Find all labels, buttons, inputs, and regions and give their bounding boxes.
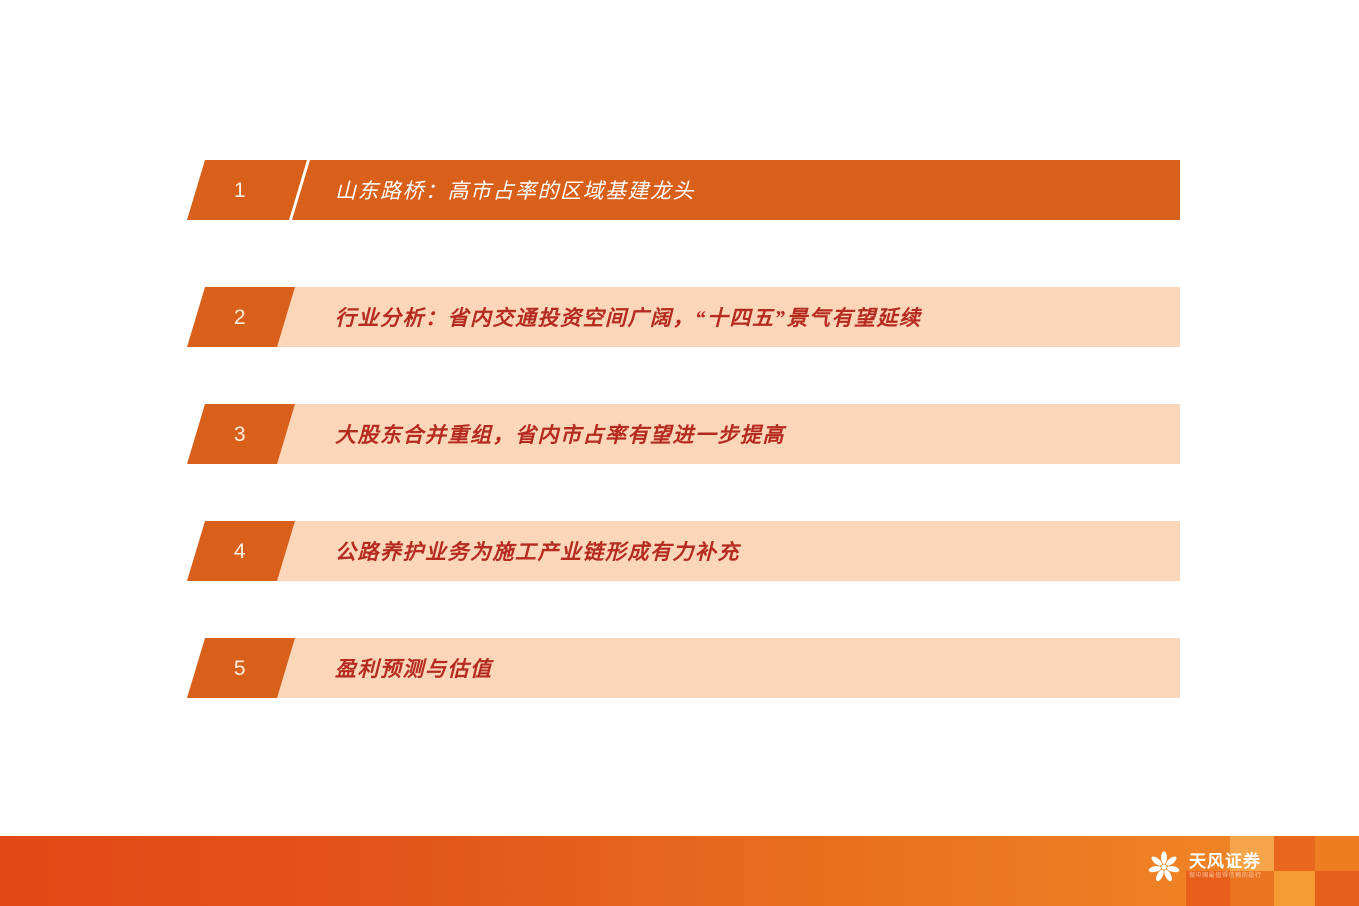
agenda-item-4[interactable]: 4 公路养护业务为施工产业链形成有力补充 (205, 521, 1180, 581)
agenda-item-1-title: 山东路桥：高市占率的区域基建龙头 (335, 160, 695, 220)
logo-tagline: 做中国最值得信赖的投行 (1189, 873, 1262, 881)
agenda-item-1[interactable]: 1 山东路桥：高市占率的区域基建龙头 (205, 160, 1180, 220)
company-logo: 天风证券 做中国最值得信赖的投行 (1147, 850, 1262, 884)
footer-decor-square (1315, 871, 1359, 906)
footer-band: 天风证券 做中国最值得信赖的投行 (0, 836, 1359, 906)
flower-icon (1147, 850, 1181, 884)
agenda-item-4-number: 4 (234, 541, 248, 562)
agenda-item-2-number-badge: 2 (187, 287, 295, 347)
agenda-list: 1 山东路桥：高市占率的区域基建龙头 2 行业分析：省内交通投资空间广阔，“十四… (0, 0, 1359, 830)
agenda-item-1-number: 1 (234, 180, 248, 201)
agenda-item-4-title: 公路养护业务为施工产业链形成有力补充 (335, 521, 740, 581)
agenda-item-5-number: 5 (234, 658, 248, 679)
agenda-item-4-number-badge: 4 (187, 521, 295, 581)
agenda-item-5[interactable]: 5 盈利预测与估值 (205, 638, 1180, 698)
footer-decor-square (1315, 836, 1359, 871)
agenda-item-3-number-badge: 3 (187, 404, 295, 464)
agenda-item-5-title: 盈利预测与估值 (335, 638, 493, 698)
agenda-item-1-divider (289, 160, 315, 220)
slide-canvas: 1 山东路桥：高市占率的区域基建龙头 2 行业分析：省内交通投资空间广阔，“十四… (0, 0, 1359, 906)
agenda-item-3[interactable]: 3 大股东合并重组，省内市占率有望进一步提高 (205, 404, 1180, 464)
agenda-item-2-number: 2 (234, 307, 248, 328)
agenda-item-2[interactable]: 2 行业分析：省内交通投资空间广阔，“十四五”景气有望延续 (205, 287, 1180, 347)
footer-decor-square (1274, 871, 1318, 906)
agenda-item-2-title: 行业分析：省内交通投资空间广阔，“十四五”景气有望延续 (335, 287, 922, 347)
footer-decor-square (1274, 836, 1318, 871)
agenda-item-3-title: 大股东合并重组，省内市占率有望进一步提高 (335, 404, 785, 464)
agenda-item-1-number-badge: 1 (187, 160, 295, 220)
agenda-item-5-number-badge: 5 (187, 638, 295, 698)
logo-text: 天风证券 做中国最值得信赖的投行 (1189, 853, 1262, 881)
logo-company-name: 天风证券 (1189, 853, 1262, 872)
agenda-item-3-number: 3 (234, 424, 248, 445)
